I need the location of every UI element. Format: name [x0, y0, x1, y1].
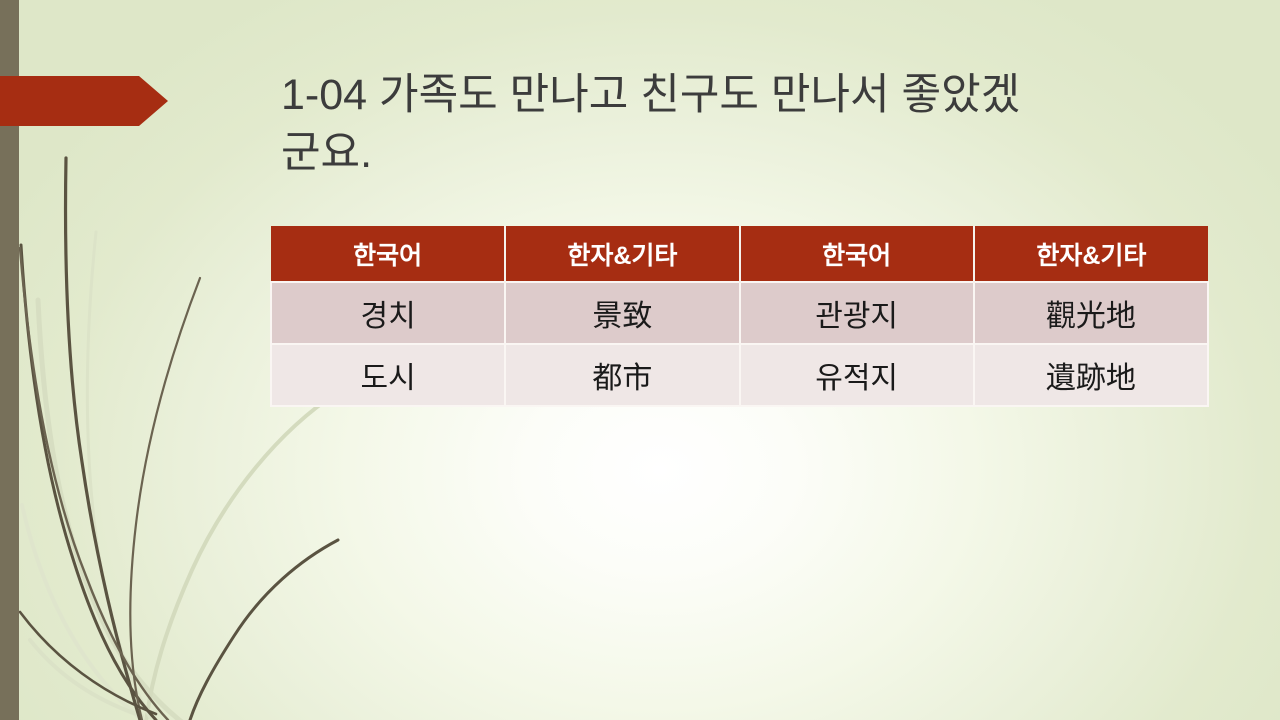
table-row: 도시 都市 유적지 遺跡地: [271, 344, 1208, 406]
cell-korean-1: 경치: [271, 282, 505, 344]
cell-korean-2: 유적지: [740, 344, 974, 406]
column-header-korean-2: 한국어: [740, 226, 974, 282]
cell-hanja-2: 遺跡地: [974, 344, 1208, 406]
column-header-hanja-2: 한자&기타: [974, 226, 1208, 282]
column-header-hanja-1: 한자&기타: [505, 226, 739, 282]
arrow-banner-shape: [0, 76, 168, 126]
page-title: 1-04 가족도 만나고 친구도 만나서 좋았겠군요.: [281, 66, 1041, 182]
column-header-korean-1: 한국어: [271, 226, 505, 282]
cell-korean-1: 도시: [271, 344, 505, 406]
cell-korean-2: 관광지: [740, 282, 974, 344]
cell-hanja-2: 觀光地: [974, 282, 1208, 344]
slide-canvas: 1-04 가족도 만나고 친구도 만나서 좋았겠군요. 한국어 한자&기타 한국…: [0, 0, 1280, 720]
cell-hanja-1: 景致: [505, 282, 739, 344]
cell-hanja-1: 都市: [505, 344, 739, 406]
table-row: 경치 景致 관광지 觀光地: [271, 282, 1208, 344]
vocabulary-table: 한국어 한자&기타 한국어 한자&기타 경치 景致 관광지 觀光地 도시 都市 …: [270, 226, 1209, 407]
table-header-row: 한국어 한자&기타 한국어 한자&기타: [271, 226, 1208, 282]
